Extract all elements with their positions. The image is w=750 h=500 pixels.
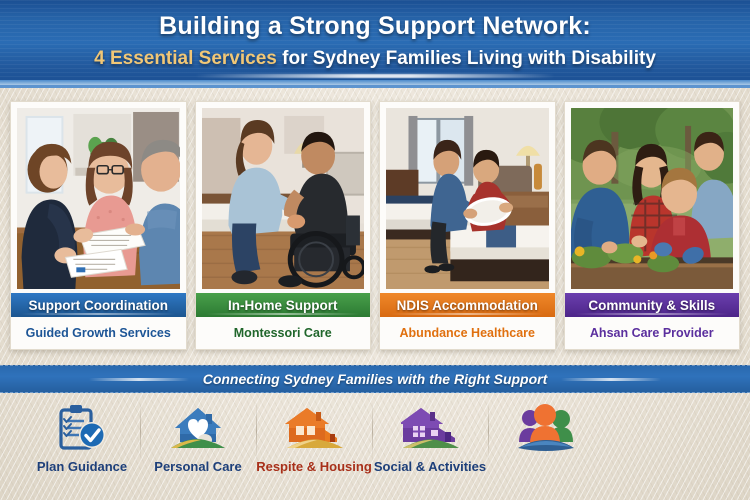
service-card-row: Support Coordination Guided Growth Servi… <box>10 101 740 350</box>
footer-item-label: Social & Activities <box>374 459 486 474</box>
card-provider-name: Ahsan Care Provider <box>571 317 734 349</box>
footer-item-label: Plan Guidance <box>37 459 127 474</box>
footer-item-social-activities[interactable]: Social & Activities <box>372 398 488 474</box>
card-provider-name: Montessori Care <box>202 317 365 349</box>
footer-item-personal-care[interactable]: Personal Care <box>140 398 256 474</box>
footer-item-label: Personal Care <box>154 459 241 474</box>
tagline-text: Connecting Sydney Families with the Righ… <box>203 371 548 387</box>
service-card[interactable]: Community & Skills Ahsan Care Provider <box>564 101 741 350</box>
tagline-ribbon: Connecting Sydney Families with the Righ… <box>0 365 750 393</box>
card-photo-in-home-support <box>202 108 365 289</box>
card-band-label: Community & Skills <box>565 293 740 317</box>
footer-item-respite-housing[interactable]: Respite & Housing <box>256 398 372 474</box>
page-title: Building a Strong Support Network: <box>0 12 750 41</box>
footer-icon-row: Plan Guidance Personal Care <box>0 398 750 500</box>
footer-item-people-group[interactable] <box>488 398 604 459</box>
ribbon-line-left <box>89 378 189 381</box>
service-card[interactable]: In-Home Support Montessori Care <box>195 101 372 350</box>
card-photo-community-skills <box>571 108 734 289</box>
card-photo-support-coordination <box>17 108 180 289</box>
house-orange-icon <box>285 404 343 452</box>
subtitle-rest: for Sydney Families Living with Disabili… <box>277 48 656 69</box>
header-banner: Building a Strong Support Network: 4 Ess… <box>0 0 750 88</box>
card-band-label: NDIS Accommodation <box>380 293 555 317</box>
page-subtitle: 4 Essential Services for Sydney Families… <box>0 48 750 70</box>
service-card[interactable]: NDIS Accommodation Abundance Healthcare <box>379 101 556 350</box>
footer-item-label: Respite & Housing <box>256 459 372 474</box>
clipboard-check-icon <box>53 404 111 452</box>
service-card[interactable]: Support Coordination Guided Growth Servi… <box>10 101 187 350</box>
header-underline-rule <box>195 74 555 78</box>
footer-item-plan-guidance[interactable]: Plan Guidance <box>24 398 140 474</box>
people-group-icon <box>517 404 575 452</box>
ribbon-line-right <box>561 378 661 381</box>
card-photo-ndis-accommodation <box>386 108 549 289</box>
card-provider-name: Guided Growth Services <box>17 317 180 349</box>
card-band-label: In-Home Support <box>196 293 371 317</box>
house-heart-icon <box>169 404 227 452</box>
card-band-label: Support Coordination <box>11 293 186 317</box>
subtitle-accent: 4 Essential Services <box>94 48 277 69</box>
house-purple-icon <box>401 404 459 452</box>
card-provider-name: Abundance Healthcare <box>386 317 549 349</box>
